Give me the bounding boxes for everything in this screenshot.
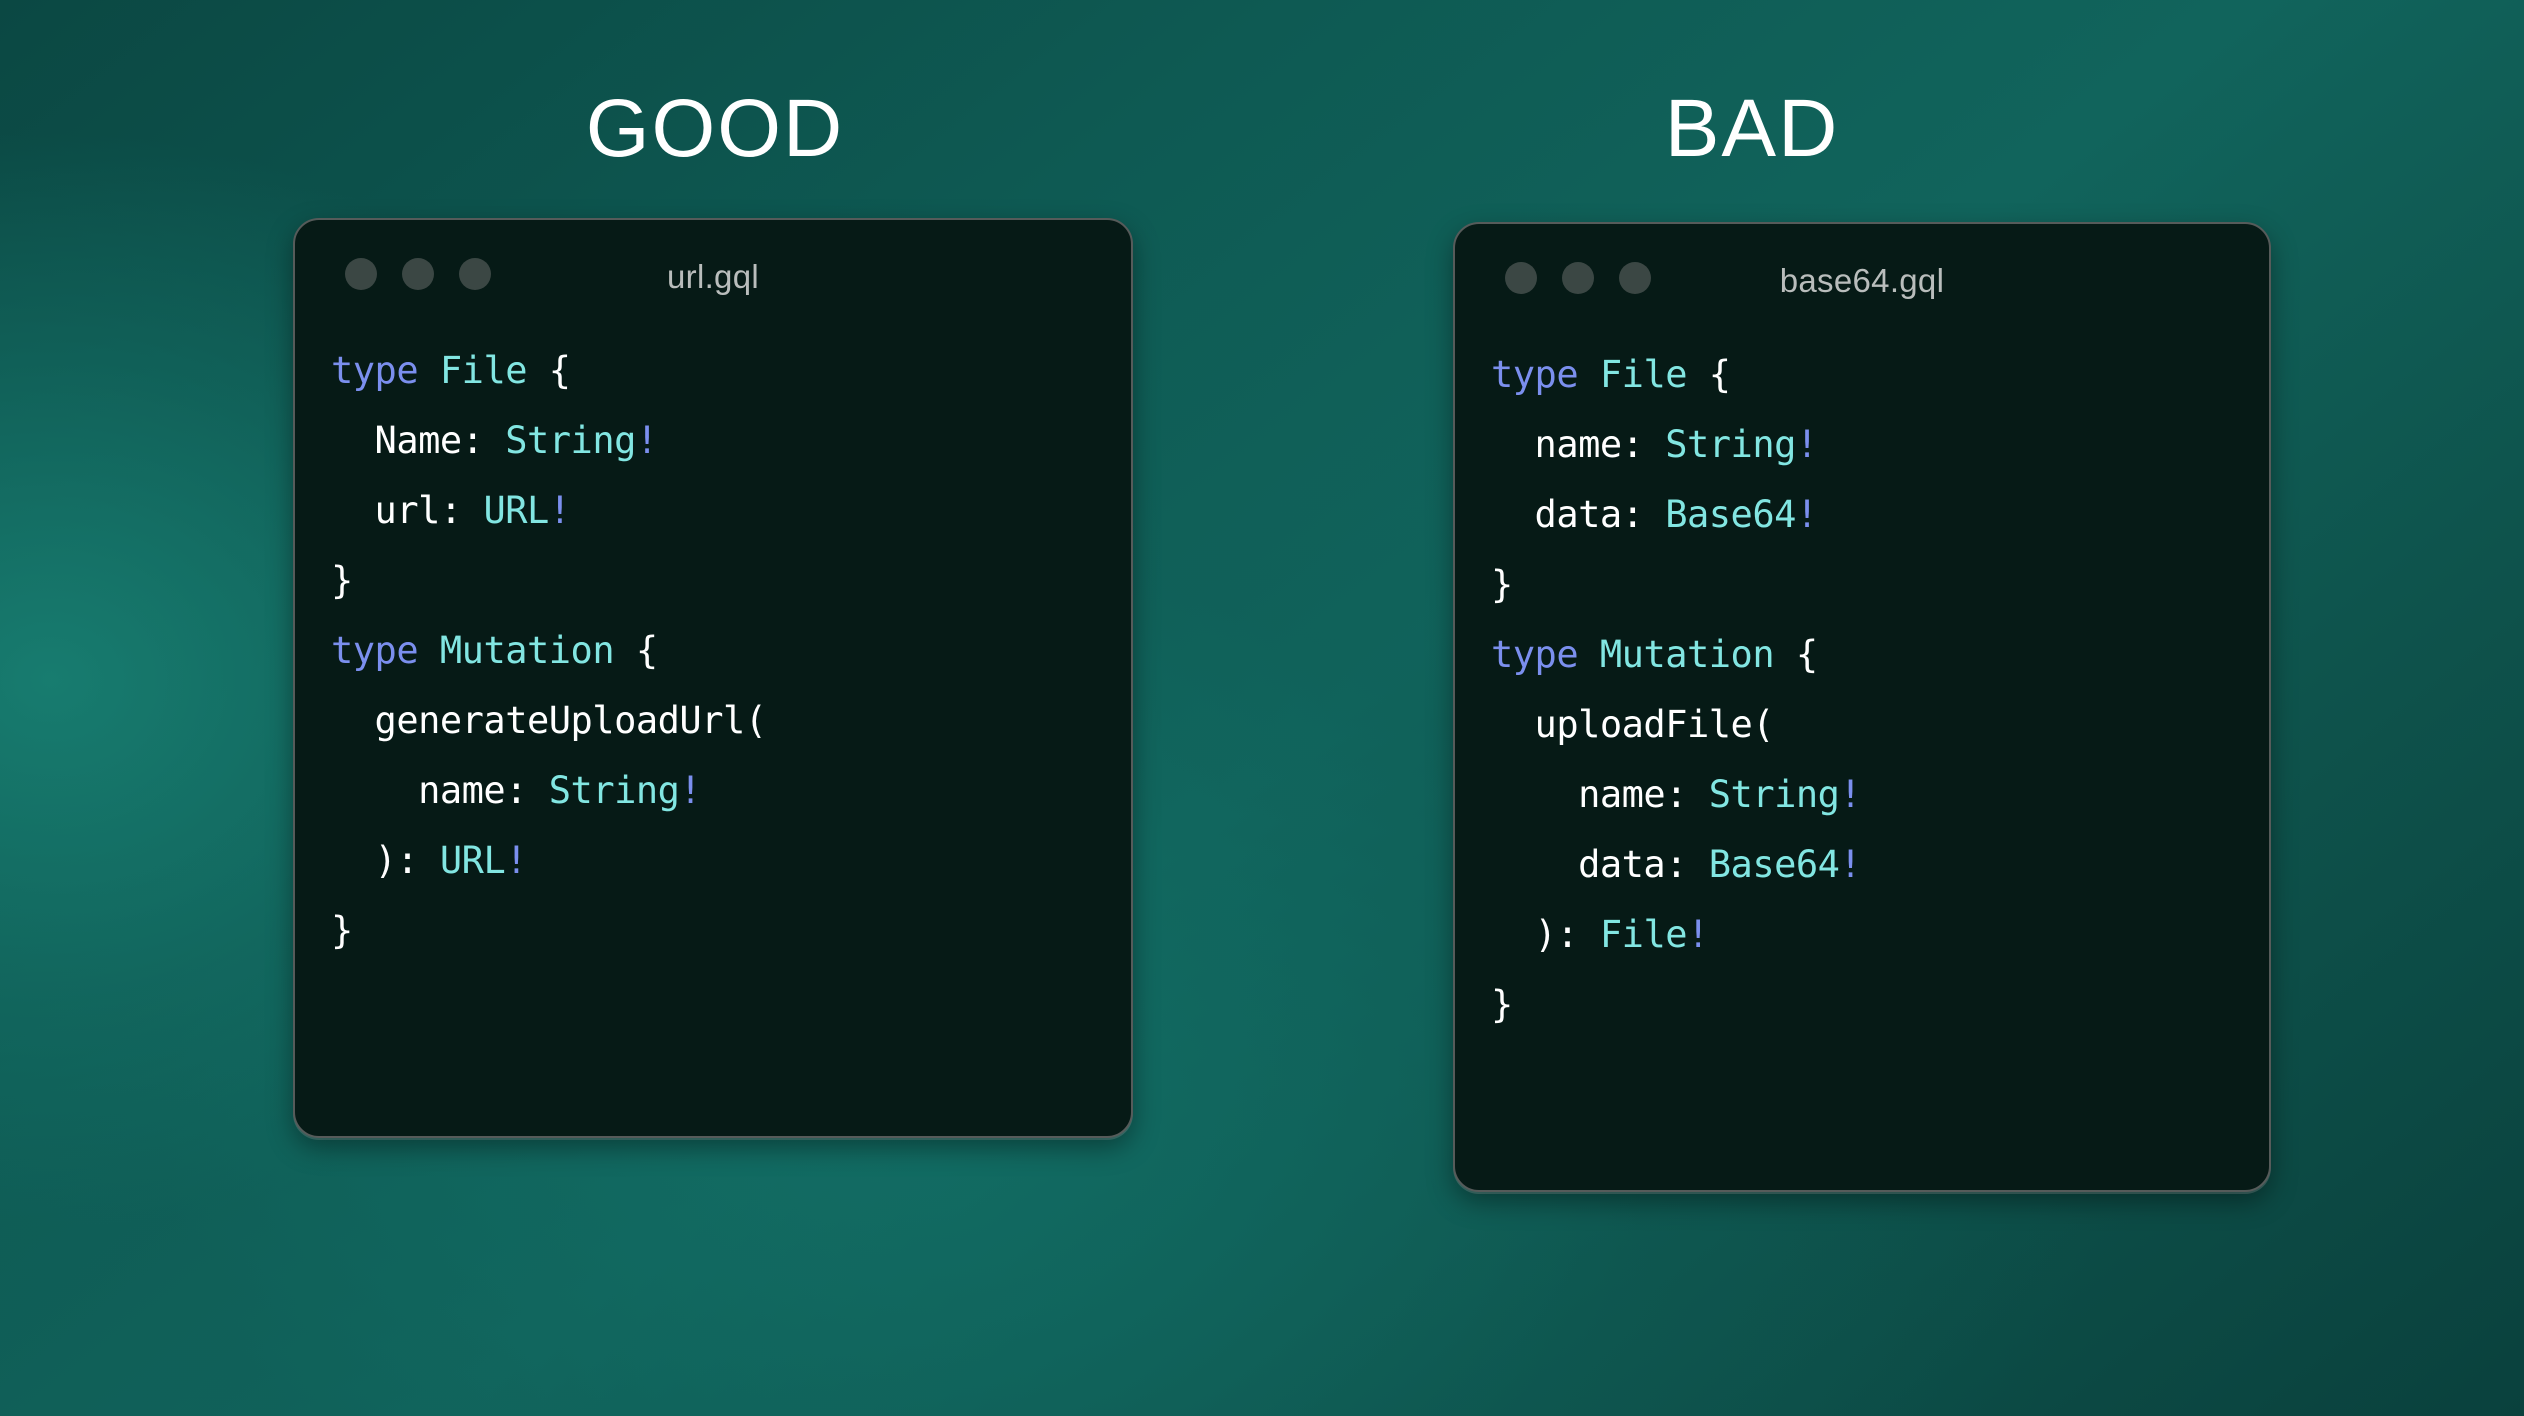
code-token-plain: name: bbox=[1491, 773, 1709, 816]
code-token-plain bbox=[1578, 633, 1600, 676]
code-token-plain: data: bbox=[1491, 843, 1709, 886]
code-token-plain: ): bbox=[331, 839, 440, 882]
code-token-keyword: type bbox=[1491, 633, 1578, 676]
code-token-punct: } bbox=[331, 559, 353, 602]
code-token-bang: ! bbox=[549, 489, 571, 532]
code-token-type: String bbox=[549, 769, 680, 812]
code-token-bang: ! bbox=[1796, 423, 1818, 466]
code-token-bang: ! bbox=[1796, 493, 1818, 536]
code-line: type Mutation { bbox=[1491, 620, 2269, 690]
code-token-type: String bbox=[505, 419, 636, 462]
code-token-plain: ): bbox=[1491, 913, 1600, 956]
code-line: Name: String! bbox=[331, 406, 1131, 476]
code-token-punct: { bbox=[614, 629, 658, 672]
code-token-plain: generateUploadUrl( bbox=[331, 699, 767, 742]
code-line: } bbox=[1491, 550, 2269, 620]
code-block-good: type File { Name: String! url: URL!}type… bbox=[295, 316, 1131, 966]
code-line: data: Base64! bbox=[1491, 830, 2269, 900]
code-token-bang: ! bbox=[1839, 843, 1861, 886]
code-line: uploadFile( bbox=[1491, 690, 2269, 760]
code-token-bang: ! bbox=[636, 419, 658, 462]
code-line: type File { bbox=[1491, 340, 2269, 410]
code-line: name: String! bbox=[331, 756, 1131, 826]
code-token-keyword: type bbox=[1491, 353, 1578, 396]
code-token-bang: ! bbox=[1839, 773, 1861, 816]
code-token-type: String bbox=[1665, 423, 1796, 466]
column-heading-bad: BAD bbox=[1592, 88, 1912, 170]
code-line: ): File! bbox=[1491, 900, 2269, 970]
code-token-type: File bbox=[1600, 353, 1687, 396]
code-token-bang: ! bbox=[505, 839, 527, 882]
code-token-plain: name: bbox=[331, 769, 549, 812]
code-token-type: File bbox=[440, 349, 527, 392]
code-token-plain bbox=[418, 349, 440, 392]
code-token-punct: } bbox=[1491, 563, 1513, 606]
code-line: type Mutation { bbox=[331, 616, 1131, 686]
code-token-punct: } bbox=[331, 909, 353, 952]
code-line: url: URL! bbox=[331, 476, 1131, 546]
title-bar-good: url.gql bbox=[295, 220, 1131, 316]
code-token-keyword: type bbox=[331, 349, 418, 392]
code-token-punct: { bbox=[1687, 353, 1731, 396]
code-line: type File { bbox=[331, 336, 1131, 406]
code-token-type: Mutation bbox=[1600, 633, 1774, 676]
code-window-good: url.gql type File { Name: String! url: U… bbox=[293, 218, 1133, 1138]
code-token-type: Base64 bbox=[1709, 843, 1840, 886]
filename-label-good: url.gql bbox=[295, 258, 1131, 296]
code-token-plain: Name: bbox=[331, 419, 505, 462]
code-token-type: Mutation bbox=[440, 629, 614, 672]
code-token-plain: data: bbox=[1491, 493, 1665, 536]
code-line: name: String! bbox=[1491, 760, 2269, 830]
code-line: } bbox=[1491, 970, 2269, 1040]
code-token-type: File bbox=[1600, 913, 1687, 956]
code-token-bang: ! bbox=[1687, 913, 1709, 956]
code-line: generateUploadUrl( bbox=[331, 686, 1131, 756]
code-block-bad: type File { name: String! data: Base64!}… bbox=[1455, 320, 2269, 1040]
code-token-punct: } bbox=[1491, 983, 1513, 1026]
code-token-type: String bbox=[1709, 773, 1840, 816]
code-line: data: Base64! bbox=[1491, 480, 2269, 550]
code-token-type: URL bbox=[483, 489, 548, 532]
code-token-type: URL bbox=[440, 839, 505, 882]
code-token-plain: name: bbox=[1491, 423, 1665, 466]
title-bar-bad: base64.gql bbox=[1455, 224, 2269, 320]
code-line: } bbox=[331, 546, 1131, 616]
code-line: name: String! bbox=[1491, 410, 2269, 480]
code-token-plain: uploadFile( bbox=[1491, 703, 1774, 746]
code-token-plain bbox=[1578, 353, 1600, 396]
code-token-bang: ! bbox=[679, 769, 701, 812]
code-token-keyword: type bbox=[331, 629, 418, 672]
code-window-bad: base64.gql type File { name: String! dat… bbox=[1453, 222, 2271, 1192]
column-heading-good: GOOD bbox=[555, 88, 875, 170]
code-line: ): URL! bbox=[331, 826, 1131, 896]
code-token-plain bbox=[418, 629, 440, 672]
code-line: } bbox=[331, 896, 1131, 966]
filename-label-bad: base64.gql bbox=[1455, 262, 2269, 300]
code-token-type: Base64 bbox=[1665, 493, 1796, 536]
code-token-punct: { bbox=[1774, 633, 1818, 676]
code-token-punct: { bbox=[527, 349, 571, 392]
code-token-plain: url: bbox=[331, 489, 483, 532]
